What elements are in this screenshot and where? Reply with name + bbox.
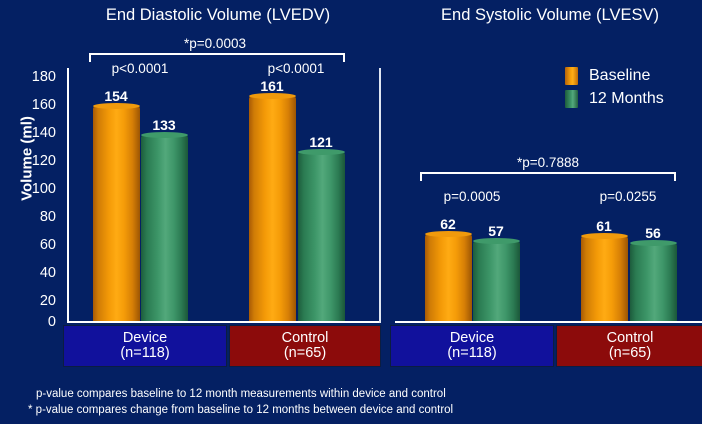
bar-value-lvedv-control-baseline: 161 bbox=[242, 78, 302, 94]
pvalue-lvedv-device: p<0.0001 bbox=[80, 61, 200, 76]
months12-swatch-icon bbox=[565, 90, 578, 108]
bracket-lvesv bbox=[420, 172, 676, 181]
category-name: Control bbox=[282, 331, 329, 346]
legend: Baseline 12 Months bbox=[565, 64, 664, 110]
bar-value-lvedv-control-12months: 121 bbox=[291, 134, 351, 150]
pvalue-lvesv-device: p=0.0005 bbox=[412, 189, 532, 204]
category-n: (n=118) bbox=[120, 346, 169, 361]
y-tick-40: 40 bbox=[22, 265, 56, 281]
legend-item-baseline[interactable]: Baseline bbox=[565, 64, 664, 87]
y-tick-20: 20 bbox=[22, 293, 56, 309]
y-tick-100: 100 bbox=[22, 181, 56, 197]
category-name: Device bbox=[450, 331, 494, 346]
pvalue-lvesv-control: p=0.0255 bbox=[568, 189, 688, 204]
category-box-lvedv-control[interactable]: Control (n=65) bbox=[229, 325, 381, 367]
overall-pvalue-lvesv: *p=0.7888 bbox=[488, 155, 608, 170]
y-axis-line bbox=[67, 68, 69, 323]
category-name: Control bbox=[607, 331, 654, 346]
y-tick-120: 120 bbox=[22, 153, 56, 169]
category-name: Device bbox=[123, 331, 167, 346]
category-box-lvesv-device[interactable]: Device (n=118) bbox=[390, 325, 554, 367]
pvalue-lvedv-control: p<0.0001 bbox=[236, 61, 356, 76]
bar-lvedv-device-baseline[interactable] bbox=[93, 106, 140, 321]
overall-pvalue-lvedv: *p=0.0003 bbox=[155, 36, 275, 51]
y-tick-60: 60 bbox=[22, 237, 56, 253]
bar-value-lvedv-device-12months: 133 bbox=[134, 117, 194, 133]
panel-divider-line bbox=[379, 68, 381, 323]
bar-lvedv-device-12months[interactable] bbox=[141, 135, 188, 321]
y-tick-140: 140 bbox=[22, 125, 56, 141]
bar-lvesv-control-12months[interactable] bbox=[630, 243, 677, 321]
category-n: (n=65) bbox=[609, 346, 651, 361]
legend-item-12months[interactable]: 12 Months bbox=[565, 87, 664, 110]
category-box-lvedv-device[interactable]: Device (n=118) bbox=[63, 325, 227, 367]
panel-title-lvesv: End Systolic Volume (LVESV) bbox=[400, 6, 700, 25]
bar-lvesv-control-baseline[interactable] bbox=[581, 236, 628, 321]
bar-lvesv-device-baseline[interactable] bbox=[425, 234, 472, 321]
y-tick-80: 80 bbox=[22, 209, 56, 225]
legend-label-12months: 12 Months bbox=[589, 90, 664, 108]
bar-lvedv-control-baseline[interactable] bbox=[249, 96, 296, 321]
footnote-line-2: * p-value compares change from baseline … bbox=[28, 404, 453, 416]
bar-lvedv-control-12months[interactable] bbox=[298, 152, 345, 321]
bar-value-lvesv-control-12months: 56 bbox=[623, 225, 683, 241]
category-box-lvesv-control[interactable]: Control (n=65) bbox=[556, 325, 702, 367]
y-tick-180: 180 bbox=[22, 69, 56, 85]
baseline-swatch-icon bbox=[565, 67, 578, 85]
bar-lvesv-device-12months[interactable] bbox=[473, 241, 520, 321]
legend-label-baseline: Baseline bbox=[589, 67, 650, 85]
category-n: (n=65) bbox=[284, 346, 326, 361]
chart-canvas: End Diastolic Volume (LVEDV) End Systoli… bbox=[0, 0, 702, 424]
x-axis-line-right bbox=[395, 321, 702, 323]
footnote-line-1: p-value compares baseline to 12 month me… bbox=[36, 388, 446, 400]
panel-title-lvedv: End Diastolic Volume (LVEDV) bbox=[58, 6, 378, 25]
y-tick-0: 0 bbox=[22, 314, 56, 330]
y-tick-160: 160 bbox=[22, 97, 56, 113]
bar-value-lvesv-device-12months: 57 bbox=[466, 223, 526, 239]
category-n: (n=118) bbox=[447, 346, 496, 361]
x-axis-line-left bbox=[67, 321, 380, 323]
bar-value-lvedv-device-baseline: 154 bbox=[86, 88, 146, 104]
